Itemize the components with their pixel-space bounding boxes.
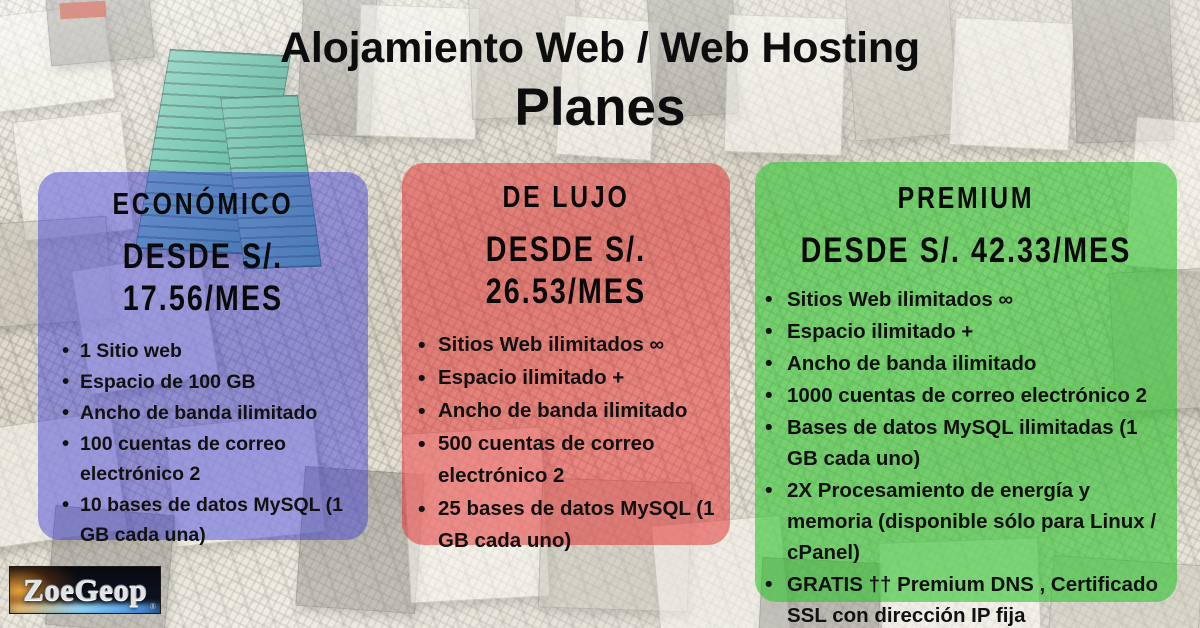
bullet-icon — [62, 367, 69, 397]
bullet-icon — [418, 493, 426, 526]
list-item: 10 bases de datos MySQL (1 GB cada una) — [62, 490, 358, 550]
bullet-icon — [62, 490, 69, 520]
feature-text: Ancho de banda ilimitado — [787, 352, 1036, 375]
bullet-icon — [765, 348, 773, 379]
bullet-icon — [765, 316, 773, 347]
bullet-icon — [62, 398, 69, 428]
feature-text: Espacio ilimitado + — [438, 366, 624, 389]
plan-features-de-lujo: Sitios Web ilimitados ∞ Espacio ilimitad… — [402, 329, 730, 557]
logo-trademark: ® — [150, 602, 156, 611]
feature-text: 1000 cuentas de correo electrónico 2 — [787, 384, 1147, 407]
list-item: Espacio ilimitado + — [765, 316, 1171, 347]
list-item: Ancho de banda ilimitado — [62, 398, 358, 428]
list-item: Espacio ilimitado + — [418, 362, 722, 394]
bullet-icon — [765, 284, 773, 315]
feature-text: Sitios Web ilimitados ∞ — [787, 288, 1013, 311]
list-item: 2X Procesamiento de energía y memoria (d… — [765, 475, 1171, 568]
list-item: 500 cuentas de correo electrónico 2 — [418, 428, 722, 492]
feature-text: 500 cuentas de correo electrónico 2 — [438, 432, 655, 487]
list-item: 1 Sitio web — [62, 336, 358, 366]
list-item: Ancho de banda ilimitado — [765, 348, 1171, 379]
feature-text: Ancho de banda ilimitado — [80, 402, 317, 424]
bullet-icon — [418, 428, 426, 461]
list-item: 100 cuentas de correo electrónico 2 — [62, 429, 358, 489]
plan-features-premium: Sitios Web ilimitados ∞ Espacio ilimitad… — [755, 284, 1177, 628]
plan-card-economico[interactable]: ECONÓMICO DESDE S/. 17.56/MES 1 Sitio we… — [38, 172, 368, 540]
plan-title-de-lujo: DE LUJO — [435, 179, 697, 215]
feature-text: Espacio de 100 GB — [80, 371, 256, 393]
bullet-icon — [765, 380, 773, 411]
bullet-icon — [418, 362, 426, 395]
list-item: Sitios Web ilimitados ∞ — [418, 329, 722, 361]
plan-price-economico: DESDE S/. 17.56/MES — [68, 236, 339, 320]
plan-features-economico: 1 Sitio web Espacio de 100 GB Ancho de b… — [38, 336, 368, 550]
plan-title-premium: PREMIUM — [797, 180, 1135, 216]
feature-text: 2X Procesamiento de energía y memoria (d… — [787, 479, 1156, 564]
bullet-icon — [418, 395, 426, 428]
plan-title-economico: ECONÓMICO — [71, 186, 335, 222]
list-item: 1000 cuentas de correo electrónico 2 — [765, 380, 1171, 411]
bullet-icon — [62, 429, 69, 459]
list-item: Sitios Web ilimitados ∞ — [765, 284, 1171, 315]
bullet-icon — [765, 412, 773, 443]
feature-text: Espacio ilimitado + — [787, 320, 973, 343]
list-item: 25 bases de datos MySQL (1 GB cada uno) — [418, 493, 722, 557]
list-item: Espacio de 100 GB — [62, 367, 358, 397]
bullet-icon — [62, 336, 69, 366]
brand-logo[interactable]: ZoeGeop ® — [9, 566, 161, 614]
plan-card-premium[interactable]: PREMIUM DESDE S/. 42.33/MES Sitios Web i… — [755, 162, 1177, 602]
poster-canvas: Alojamiento Web / Web Hosting Planes ECO… — [0, 0, 1200, 628]
logo-wordmark: ZoeGeop — [10, 567, 160, 613]
bullet-icon — [765, 569, 773, 600]
feature-text: 10 bases de datos MySQL (1 GB cada una) — [80, 494, 343, 546]
plan-price-de-lujo: DESDE S/. 26.53/MES — [432, 229, 701, 313]
list-item: Bases de datos MySQL ilimitadas (1 GB ca… — [765, 412, 1171, 474]
feature-text: 1 Sitio web — [80, 340, 182, 362]
feature-text: 100 cuentas de correo electrónico 2 — [80, 433, 286, 485]
bullet-icon — [418, 329, 426, 362]
list-item: GRATIS †† Premium DNS , Certificado SSL … — [765, 569, 1171, 628]
plan-price-premium: DESDE S/. 42.33/MES — [793, 230, 1139, 272]
feature-text: Ancho de banda ilimitado — [438, 399, 687, 422]
plan-card-de-lujo[interactable]: DE LUJO DESDE S/. 26.53/MES Sitios Web i… — [402, 163, 730, 545]
feature-text: Sitios Web ilimitados ∞ — [438, 333, 664, 356]
bullet-icon — [765, 475, 773, 506]
feature-text: Bases de datos MySQL ilimitadas (1 GB ca… — [787, 416, 1138, 470]
list-item: Ancho de banda ilimitado — [418, 395, 722, 427]
feature-text: GRATIS †† Premium DNS , Certificado SSL … — [787, 573, 1158, 627]
feature-text: 25 bases de datos MySQL (1 GB cada uno) — [438, 497, 714, 552]
